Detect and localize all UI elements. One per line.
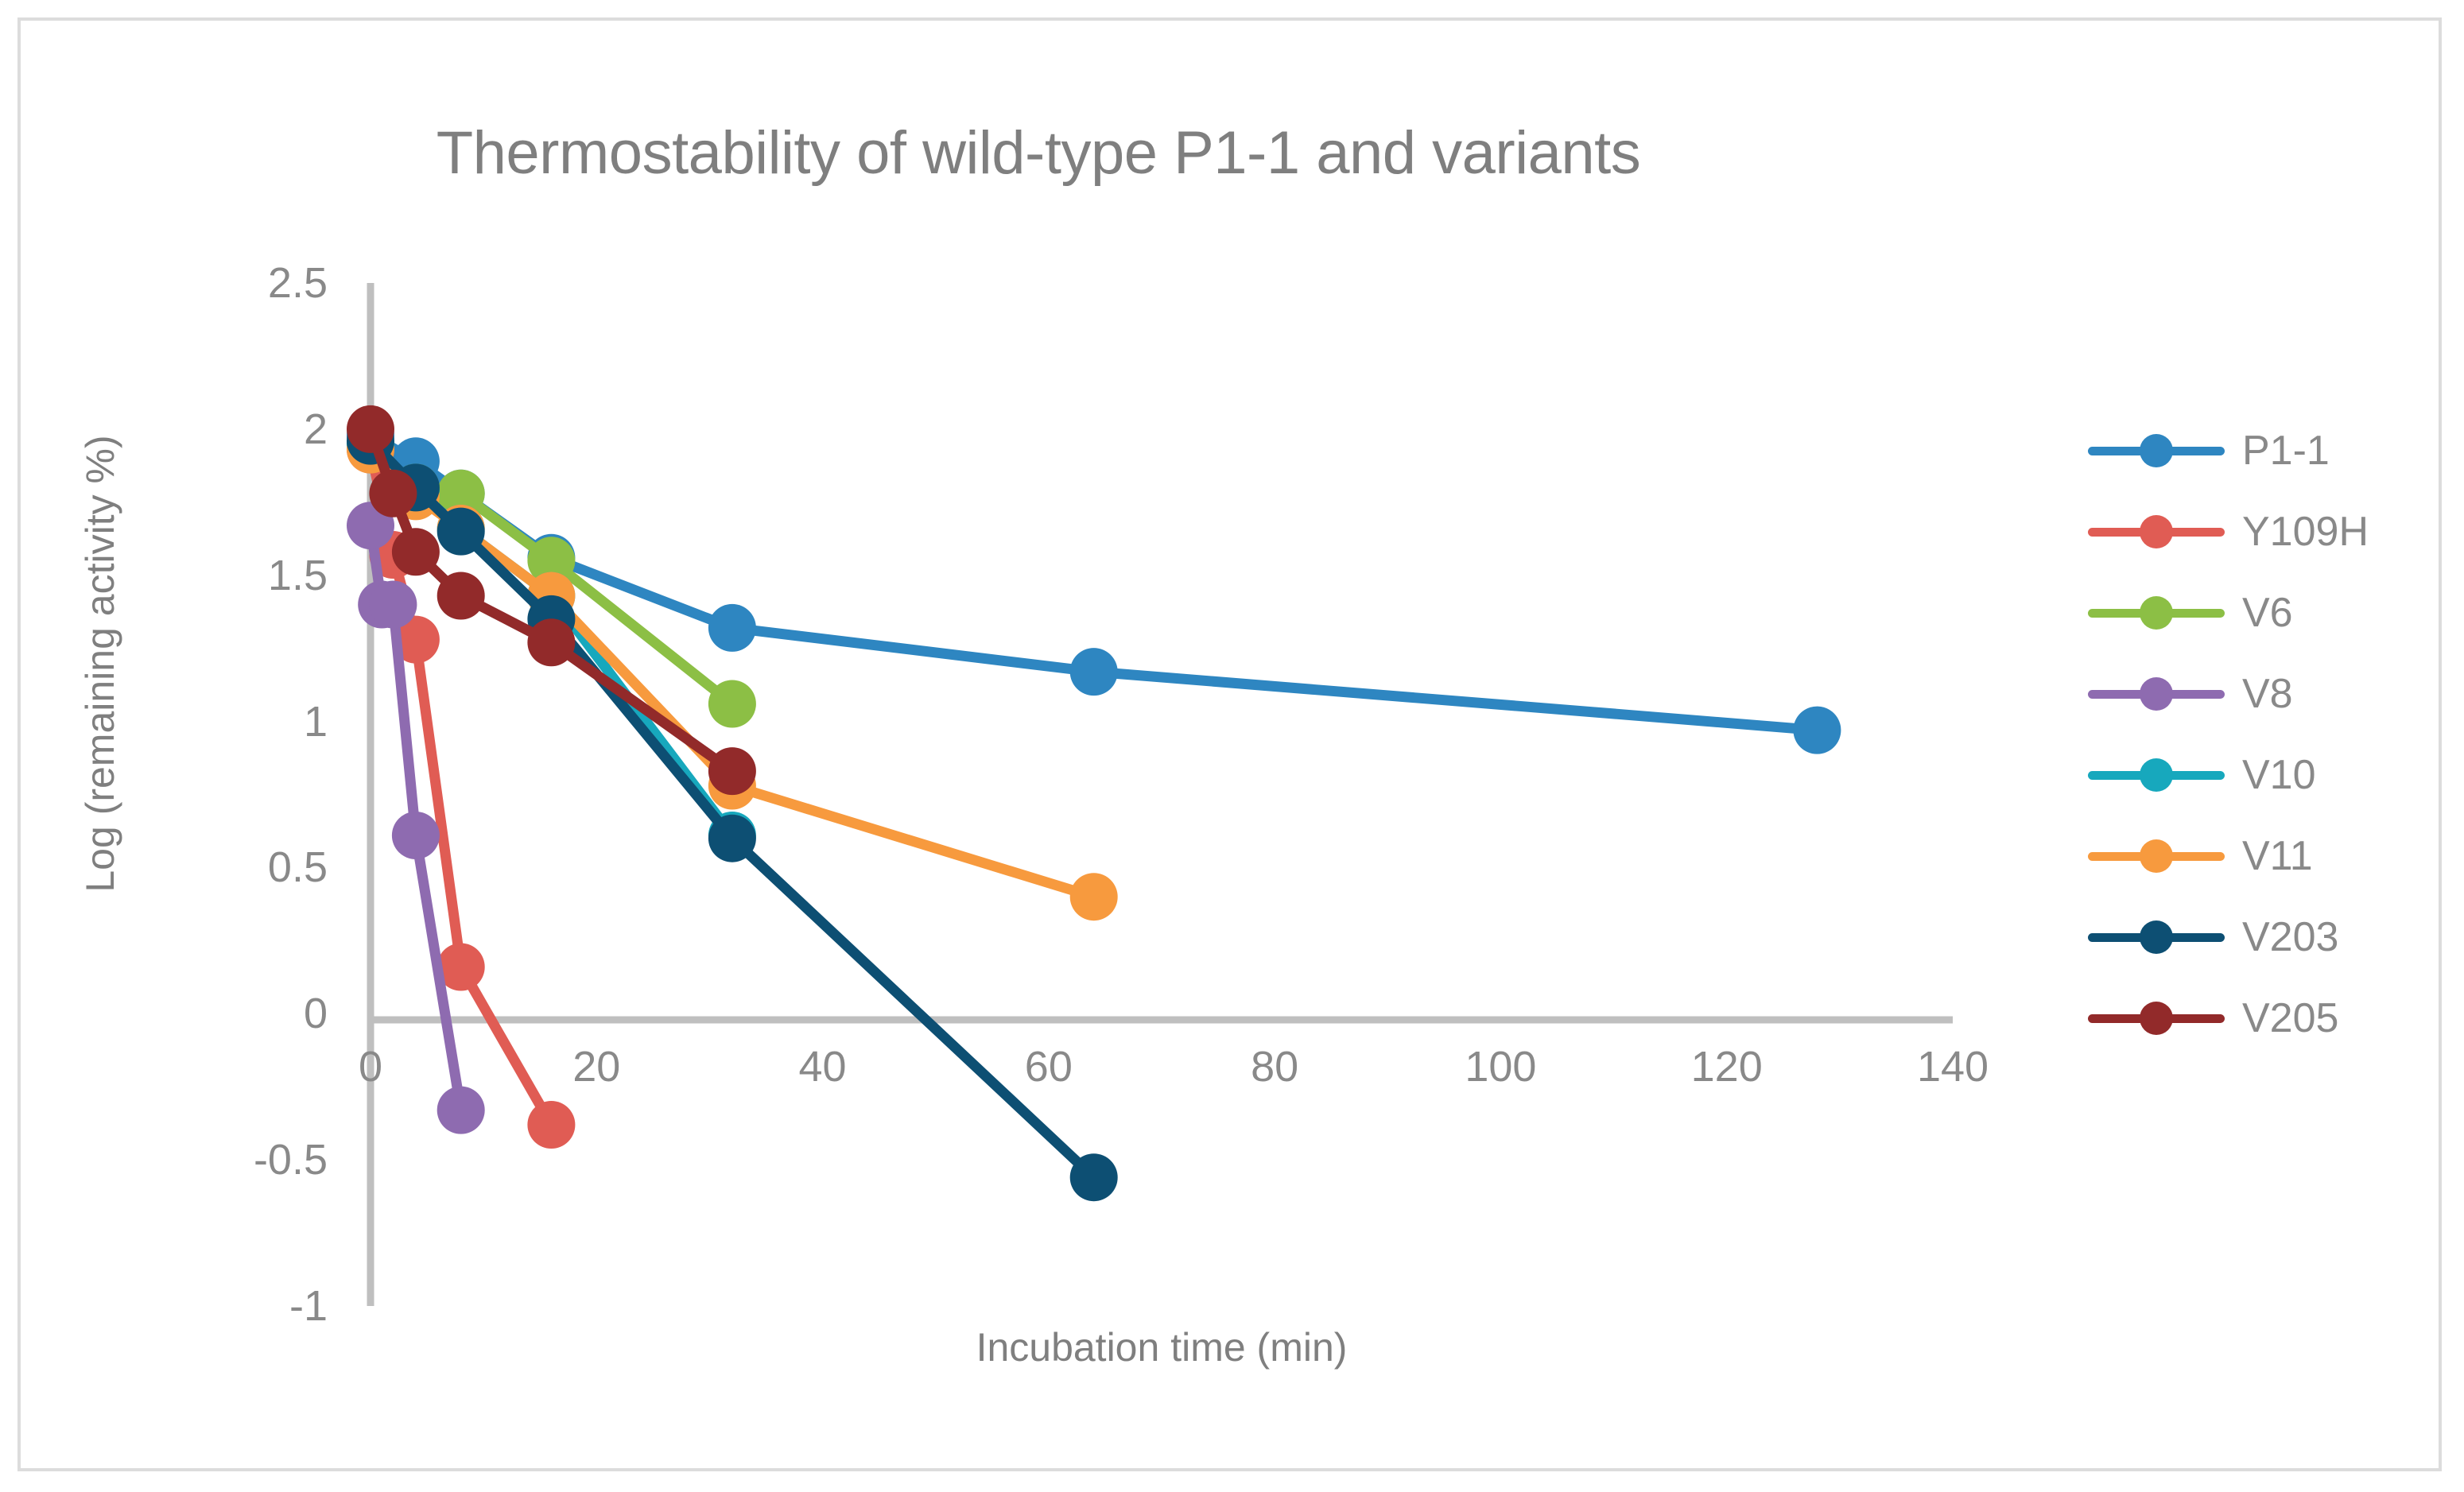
legend-swatch [2088,839,2225,874]
legend-item-v203[interactable]: V203 [2088,897,2422,978]
legend-item-v10[interactable]: V10 [2088,734,2422,816]
legend-marker-icon [2140,677,2173,711]
legend-item-label: V6 [2225,589,2293,637]
x-axis-tick-label: 40 [743,1042,902,1091]
x-axis-tick-labels: 020406080100120140 [21,21,2445,1475]
x-axis-tick-label: 80 [1195,1042,1354,1091]
x-axis-tick-label: 140 [1873,1042,2032,1091]
legend-marker-icon [2140,596,2173,630]
legend-swatch [2088,676,2225,711]
legend-item-label: V203 [2225,913,2338,961]
x-axis-tick-label: 20 [517,1042,676,1091]
legend-item-label: V10 [2225,751,2316,799]
legend-item-v8[interactable]: V8 [2088,653,2422,734]
legend-item-label: V205 [2225,994,2338,1042]
y-axis-title: Log (remaining activity %) [77,346,123,982]
legend-item-y109h[interactable]: Y109H [2088,491,2422,572]
legend-swatch [2088,433,2225,468]
legend-swatch [2088,1001,2225,1036]
legend-item-v205[interactable]: V205 [2088,978,2422,1059]
x-axis-title: Incubation time (min) [371,1324,1953,1370]
legend-item-label: V8 [2225,670,2293,718]
legend-item-label: P1-1 [2225,427,2330,475]
legend-swatch [2088,595,2225,630]
legend-swatch [2088,514,2225,549]
legend-item-v6[interactable]: V6 [2088,572,2422,653]
legend-swatch [2088,920,2225,955]
legend-item-p1-1[interactable]: P1-1 [2088,410,2422,491]
legend-marker-icon [2140,1002,2173,1035]
x-axis-tick-label: 120 [1647,1042,1806,1091]
plot-area: 2.521.510.50-0.5-1 020406080100120140 Lo… [21,21,2445,1475]
legend-swatch [2088,758,2225,793]
legend-marker-icon [2140,434,2173,467]
legend-marker-icon [2140,839,2173,873]
chart-legend: P1-1Y109HV6V8V10V11V203V205 [2088,410,2422,1059]
x-axis-tick-label: 100 [1421,1042,1580,1091]
legend-item-label: V11 [2225,832,2313,880]
legend-item-v11[interactable]: V11 [2088,816,2422,897]
chart-frame: Thermostability of wild-type P1-1 and va… [17,17,2442,1471]
legend-item-label: Y109H [2225,508,2369,556]
x-axis-tick-label: 60 [969,1042,1128,1091]
legend-marker-icon [2140,758,2173,792]
legend-marker-icon [2140,920,2173,954]
x-axis-tick-label: 0 [291,1042,450,1091]
legend-marker-icon [2140,515,2173,548]
